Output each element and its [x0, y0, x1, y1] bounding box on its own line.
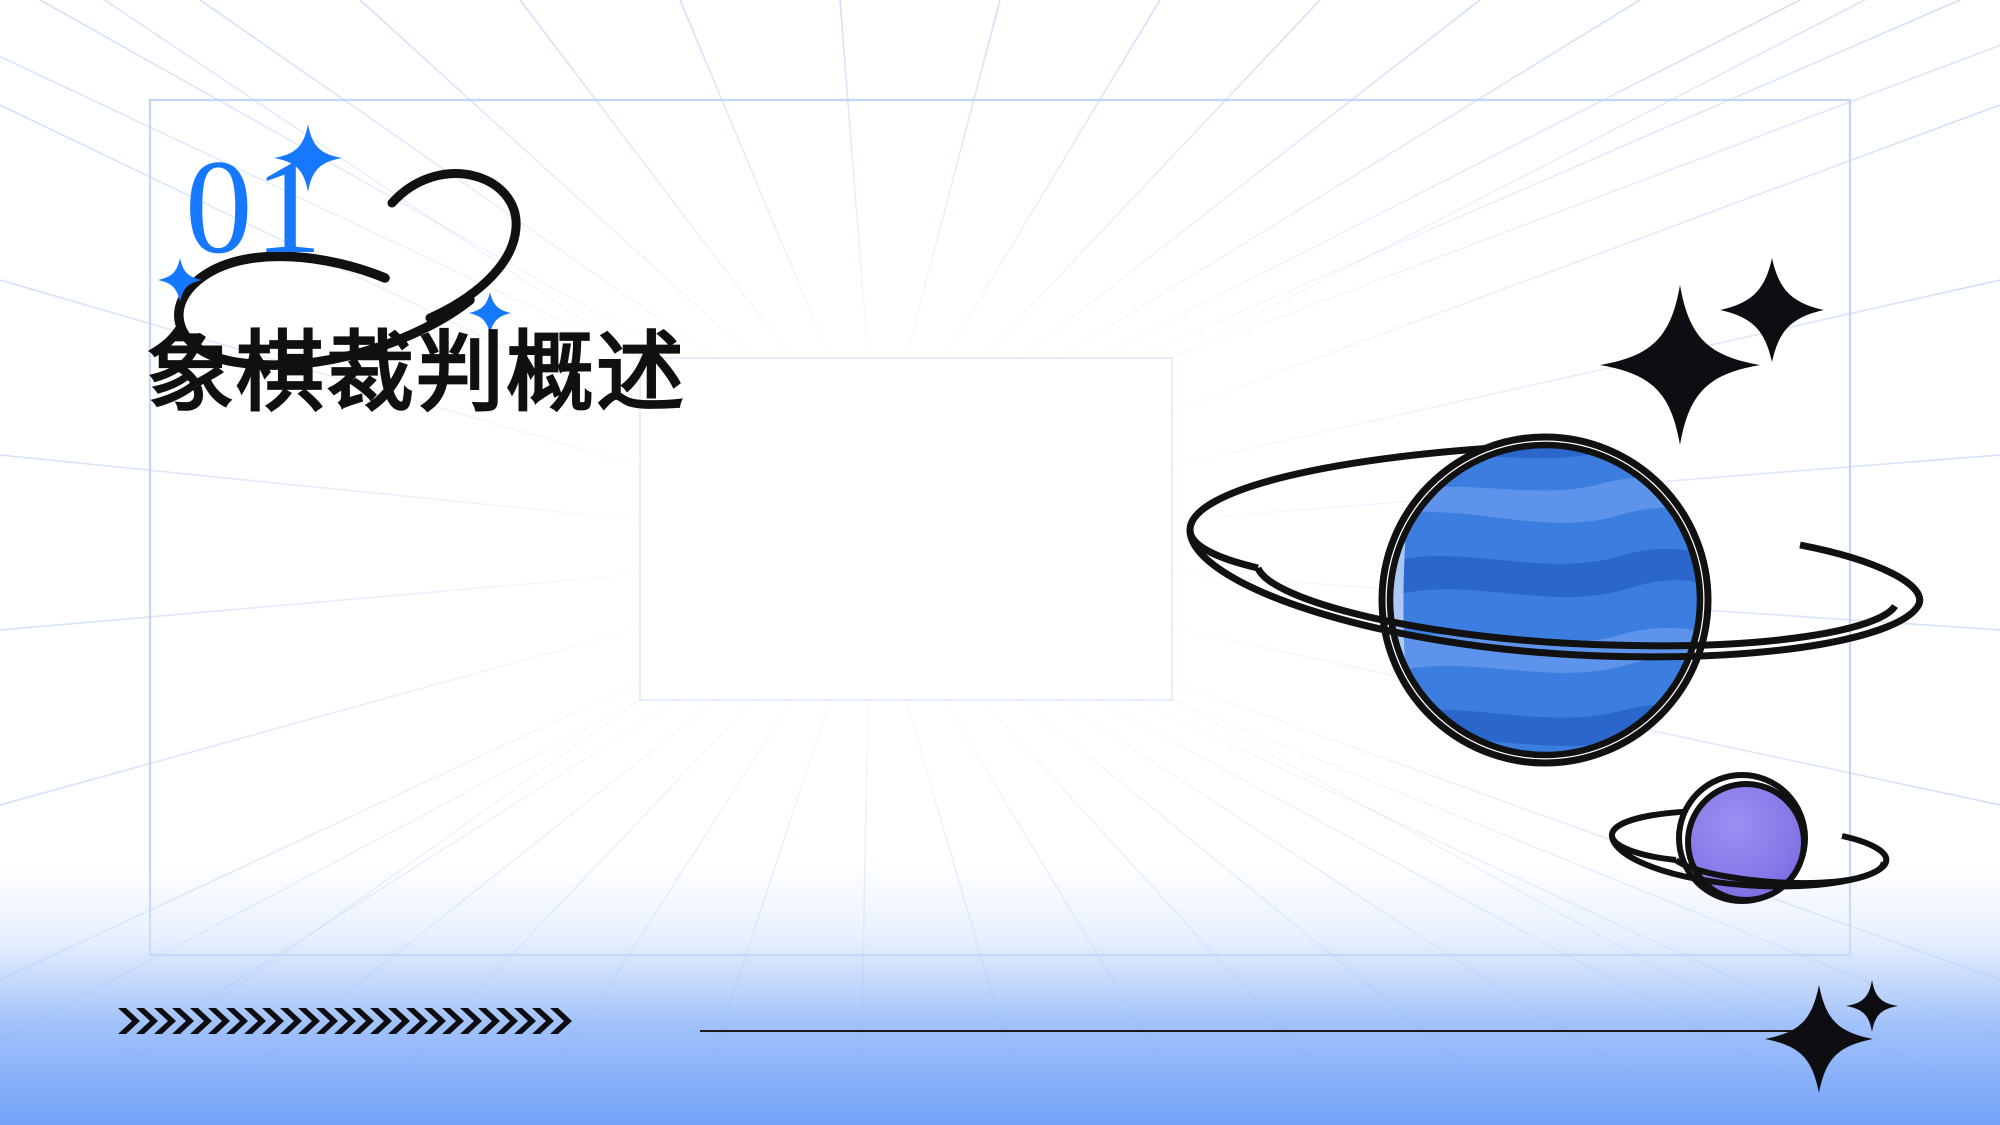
bottom-right-sparkles-layer	[0, 0, 2000, 1125]
sparkle-small-bottom-right-icon	[1846, 980, 1898, 1032]
presentation-slide: 01 象棋裁判概述	[0, 0, 2000, 1125]
sparkle-large-bottom-right-icon	[1765, 985, 1873, 1093]
